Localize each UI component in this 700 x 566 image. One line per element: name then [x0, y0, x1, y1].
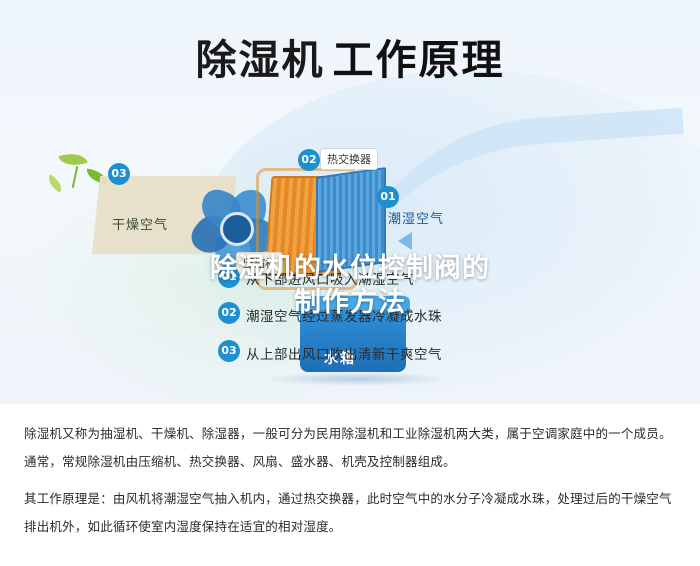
base-shadow [262, 372, 452, 386]
badge-heat-exchanger: 02 [298, 149, 320, 171]
fan-hub [220, 212, 254, 246]
badge-humid-air: 01 [377, 186, 399, 208]
heat-exchanger-label: 热交换器 [320, 148, 378, 170]
paragraph-3: 其工作原理是：由风机将潮湿空气抽入机内，通过热交换器，此时空气中的水分子冷凝成水… [24, 487, 676, 511]
badge-step-1: 01 [218, 266, 240, 288]
step-1-text: 从下部进风口吸入潮湿空气 [246, 268, 414, 288]
paragraph-2: 通常，常规除湿机由压缩机、热交换器、风扇、盛水器、机壳及控制器组成。 [24, 450, 676, 474]
leaf-icon [58, 148, 87, 170]
diagram-title: 除湿机工作原理 [0, 26, 700, 86]
step-2-text: 潮湿空气经过蒸发器冷凝成水珠 [246, 305, 442, 325]
page-root: 除湿机工作原理 03 干燥空气 02 热交换器 01 潮湿空气 [0, 0, 700, 566]
article-text: 除湿机又称为抽湿机、干燥机、除湿器，一般可分为民用除湿机和工业除湿机两大类，属于… [0, 404, 700, 566]
leaf-stem [72, 166, 79, 188]
paragraph-4: 排出机外，如此循环使室内湿度保持在适宜的相对湿度。 [24, 515, 676, 539]
title-sub-text: 工作原理 [333, 26, 505, 86]
paragraph-1: 除湿机又称为抽湿机、干燥机、除湿器，一般可分为民用除湿机和工业除湿机两大类，属于… [24, 422, 676, 446]
leaf-icon [44, 174, 65, 193]
badge-step-3: 03 [218, 340, 240, 362]
humid-air-label: 潮湿空气 [388, 208, 444, 227]
badge-dry-air: 03 [108, 163, 130, 185]
dry-air-label: 干燥空气 [112, 214, 168, 233]
diagram-illustration: 除湿机工作原理 03 干燥空气 02 热交换器 01 潮湿空气 [0, 0, 700, 404]
step-3-text: 从上部出风口吹出清新干爽空气 [246, 343, 442, 363]
airflow-arrow-icon [398, 232, 412, 250]
badge-step-2: 02 [218, 302, 240, 324]
heat-exchanger-block [316, 167, 386, 273]
title-main-text: 除湿机 [196, 37, 325, 84]
